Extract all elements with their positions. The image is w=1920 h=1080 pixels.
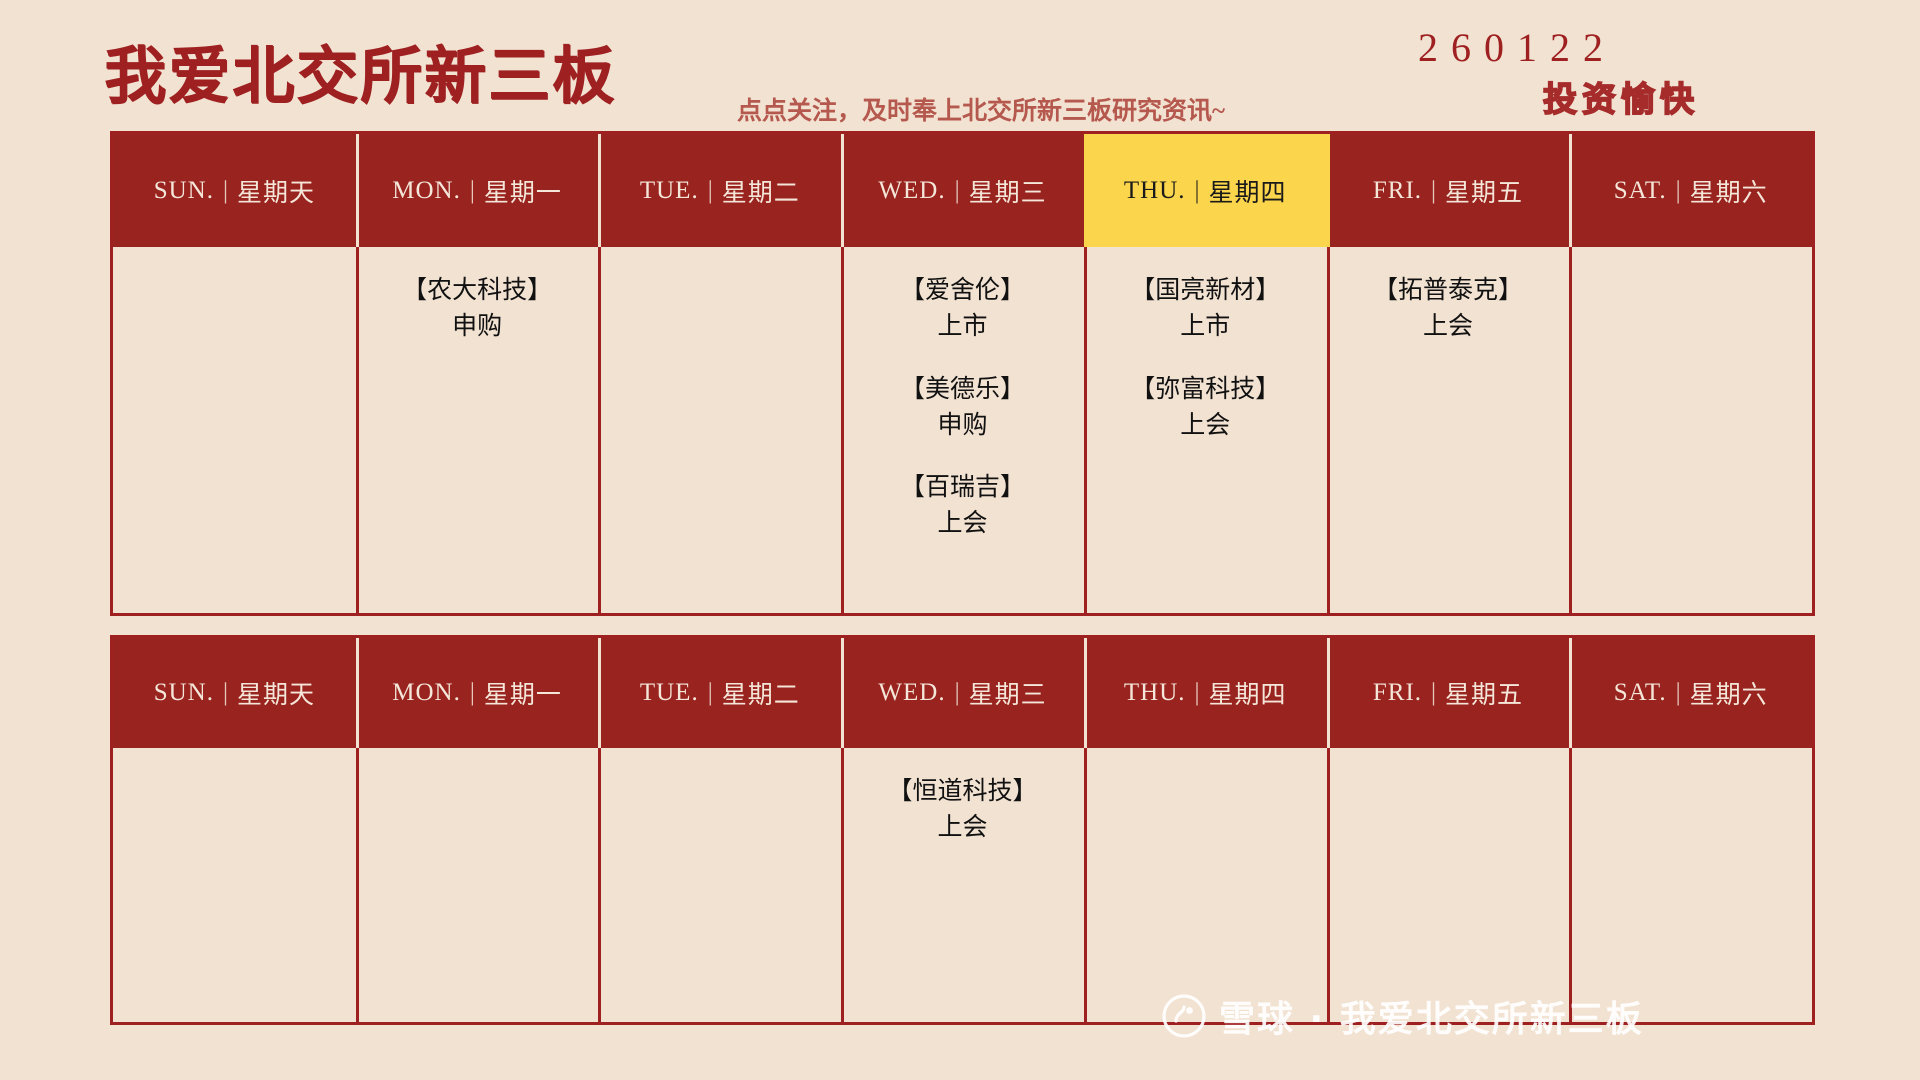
weekday-header-sat: SAT.|星期六 <box>1569 134 1812 247</box>
event-company-name: 【国亮新材】 <box>1084 273 1327 309</box>
event-company-name: 【拓普泰克】 <box>1327 273 1570 309</box>
weekday-abbr: MON. <box>392 177 461 205</box>
weekday-header-sun: SUN.|星期天 <box>113 638 356 748</box>
event-company-name: 【美德乐】 <box>841 372 1084 408</box>
calendar-week-2-header-row: SUN.|星期天MON.|星期一TUE.|星期二WED.|星期三THU.|星期四… <box>113 638 1812 748</box>
weekday-label-cn: 星期一 <box>484 675 562 711</box>
weekday-separator: | <box>1431 177 1436 205</box>
weekday-label-cn: 星期四 <box>1209 675 1287 711</box>
event-company-name: 【农大科技】 <box>356 273 599 309</box>
day-cell-sun[interactable] <box>113 748 356 1022</box>
event-company-name: 【恒道科技】 <box>841 774 1084 810</box>
day-cell-fri[interactable]: 【拓普泰克】上会 <box>1327 247 1570 613</box>
weekday-label-cn: 星期五 <box>1445 173 1523 209</box>
event-action-label: 上会 <box>1084 408 1327 444</box>
weekday-separator: | <box>1676 177 1681 205</box>
day-cell-thu[interactable]: 【国亮新材】上市【弥富科技】上会 <box>1084 247 1327 613</box>
weekday-abbr: MON. <box>392 679 461 707</box>
event-action-label: 上市 <box>1084 309 1327 345</box>
calendar-event[interactable]: 【农大科技】申购 <box>356 273 599 346</box>
weekday-label-cn: 星期六 <box>1690 173 1768 209</box>
day-cell-tue[interactable] <box>598 247 841 613</box>
day-cell-tue[interactable] <box>598 748 841 1022</box>
page-subtitle: 点点关注，及时奉上北交所新三板研究资讯~ <box>737 99 1225 124</box>
weekday-abbr: FRI. <box>1373 679 1422 707</box>
event-action-label: 申购 <box>841 408 1084 444</box>
weekday-abbr: THU. <box>1124 679 1186 707</box>
weekday-abbr: SUN. <box>154 679 214 707</box>
calendar-event[interactable]: 【拓普泰克】上会 <box>1327 273 1570 346</box>
weekday-header-thu: THU.|星期四 <box>1084 638 1327 748</box>
weekday-label-cn: 星期三 <box>969 675 1047 711</box>
event-company-name: 【弥富科技】 <box>1084 372 1327 408</box>
weekday-separator: | <box>708 177 713 205</box>
event-action-label: 上会 <box>841 810 1084 846</box>
weekday-separator: | <box>955 679 960 707</box>
weekday-separator: | <box>470 177 475 205</box>
weekday-header-mon: MON.|星期一 <box>356 134 599 247</box>
weekday-separator: | <box>223 679 228 707</box>
weekday-abbr: WED. <box>878 177 945 205</box>
weekday-separator: | <box>1195 679 1200 707</box>
weekday-abbr: TUE. <box>640 679 699 707</box>
weekday-header-fri: FRI.|星期五 <box>1327 134 1570 247</box>
weekday-header-sat: SAT.|星期六 <box>1569 638 1812 748</box>
day-cell-thu[interactable] <box>1084 748 1327 1022</box>
weekday-separator: | <box>708 679 713 707</box>
weekday-abbr: FRI. <box>1373 177 1422 205</box>
calendar-week-1-body-row: 【农大科技】申购【爱舍伦】上市【美德乐】申购【百瑞吉】上会【国亮新材】上市【弥富… <box>113 247 1812 613</box>
weekday-header-tue: TUE.|星期二 <box>598 134 841 247</box>
weekday-label-cn: 星期三 <box>969 173 1047 209</box>
calendar-event[interactable]: 【美德乐】申购 <box>841 372 1084 445</box>
weekday-abbr: SAT. <box>1614 177 1667 205</box>
weekday-abbr: SAT. <box>1614 679 1667 707</box>
weekday-separator: | <box>1431 679 1436 707</box>
weekday-abbr: WED. <box>878 679 945 707</box>
day-cell-sun[interactable] <box>113 247 356 613</box>
day-cell-wed[interactable]: 【爱舍伦】上市【美德乐】申购【百瑞吉】上会 <box>841 247 1084 613</box>
weekday-label-cn: 星期五 <box>1445 675 1523 711</box>
weekday-label-cn: 星期天 <box>237 675 315 711</box>
event-company-name: 【爱舍伦】 <box>841 273 1084 309</box>
weekday-header-fri: FRI.|星期五 <box>1327 638 1570 748</box>
event-action-label: 上市 <box>841 309 1084 345</box>
weekday-label-cn: 星期二 <box>722 173 800 209</box>
weekday-separator: | <box>1676 679 1681 707</box>
weekday-header-thu: THU.|星期四 <box>1084 134 1327 247</box>
calendar-event[interactable]: 【爱舍伦】上市 <box>841 273 1084 346</box>
calendar-event[interactable]: 【国亮新材】上市 <box>1084 273 1327 346</box>
calendar-event[interactable]: 【百瑞吉】上会 <box>841 470 1084 543</box>
weekday-header-wed: WED.|星期三 <box>841 134 1084 247</box>
day-cell-fri[interactable] <box>1327 748 1570 1022</box>
weekday-header-wed: WED.|星期三 <box>841 638 1084 748</box>
calendar-week-2-body-row: 【恒道科技】上会 <box>113 748 1812 1022</box>
weekday-header-sun: SUN.|星期天 <box>113 134 356 247</box>
weekday-abbr: THU. <box>1124 177 1186 205</box>
calendar-week-2: SUN.|星期天MON.|星期一TUE.|星期二WED.|星期三THU.|星期四… <box>110 635 1815 1025</box>
day-cell-sat[interactable] <box>1569 247 1812 613</box>
weekday-label-cn: 星期六 <box>1690 675 1768 711</box>
date-number: 260122 <box>1418 28 1616 68</box>
day-cell-wed[interactable]: 【恒道科技】上会 <box>841 748 1084 1022</box>
weekday-label-cn: 星期二 <box>722 675 800 711</box>
day-cell-mon[interactable] <box>356 748 599 1022</box>
page-title: 我爱北交所新三板 <box>104 46 616 108</box>
weekday-label-cn: 星期一 <box>484 173 562 209</box>
day-cell-sat[interactable] <box>1569 748 1812 1022</box>
weekday-label-cn: 星期天 <box>237 173 315 209</box>
calendar-event[interactable]: 【弥富科技】上会 <box>1084 372 1327 445</box>
weekday-abbr: SUN. <box>154 177 214 205</box>
weekday-separator: | <box>955 177 960 205</box>
calendar-week-1-header-row: SUN.|星期天MON.|星期一TUE.|星期二WED.|星期三THU.|星期四… <box>113 134 1812 247</box>
page-header: 我爱北交所新三板 点点关注，及时奉上北交所新三板研究资讯~ 260122 投资愉… <box>0 0 1920 128</box>
day-cell-mon[interactable]: 【农大科技】申购 <box>356 247 599 613</box>
weekday-separator: | <box>470 679 475 707</box>
event-action-label: 上会 <box>841 506 1084 542</box>
weekday-separator: | <box>1195 177 1200 205</box>
event-action-label: 申购 <box>356 309 599 345</box>
weekday-header-tue: TUE.|星期二 <box>598 638 841 748</box>
wish-text: 投资愉快 <box>1543 84 1699 118</box>
calendar-event[interactable]: 【恒道科技】上会 <box>841 774 1084 847</box>
calendar-week-1: SUN.|星期天MON.|星期一TUE.|星期二WED.|星期三THU.|星期四… <box>110 131 1815 616</box>
weekday-header-mon: MON.|星期一 <box>356 638 599 748</box>
event-company-name: 【百瑞吉】 <box>841 470 1084 506</box>
event-action-label: 上会 <box>1327 309 1570 345</box>
weekday-abbr: TUE. <box>640 177 699 205</box>
weekday-separator: | <box>223 177 228 205</box>
weekday-label-cn: 星期四 <box>1209 173 1287 209</box>
